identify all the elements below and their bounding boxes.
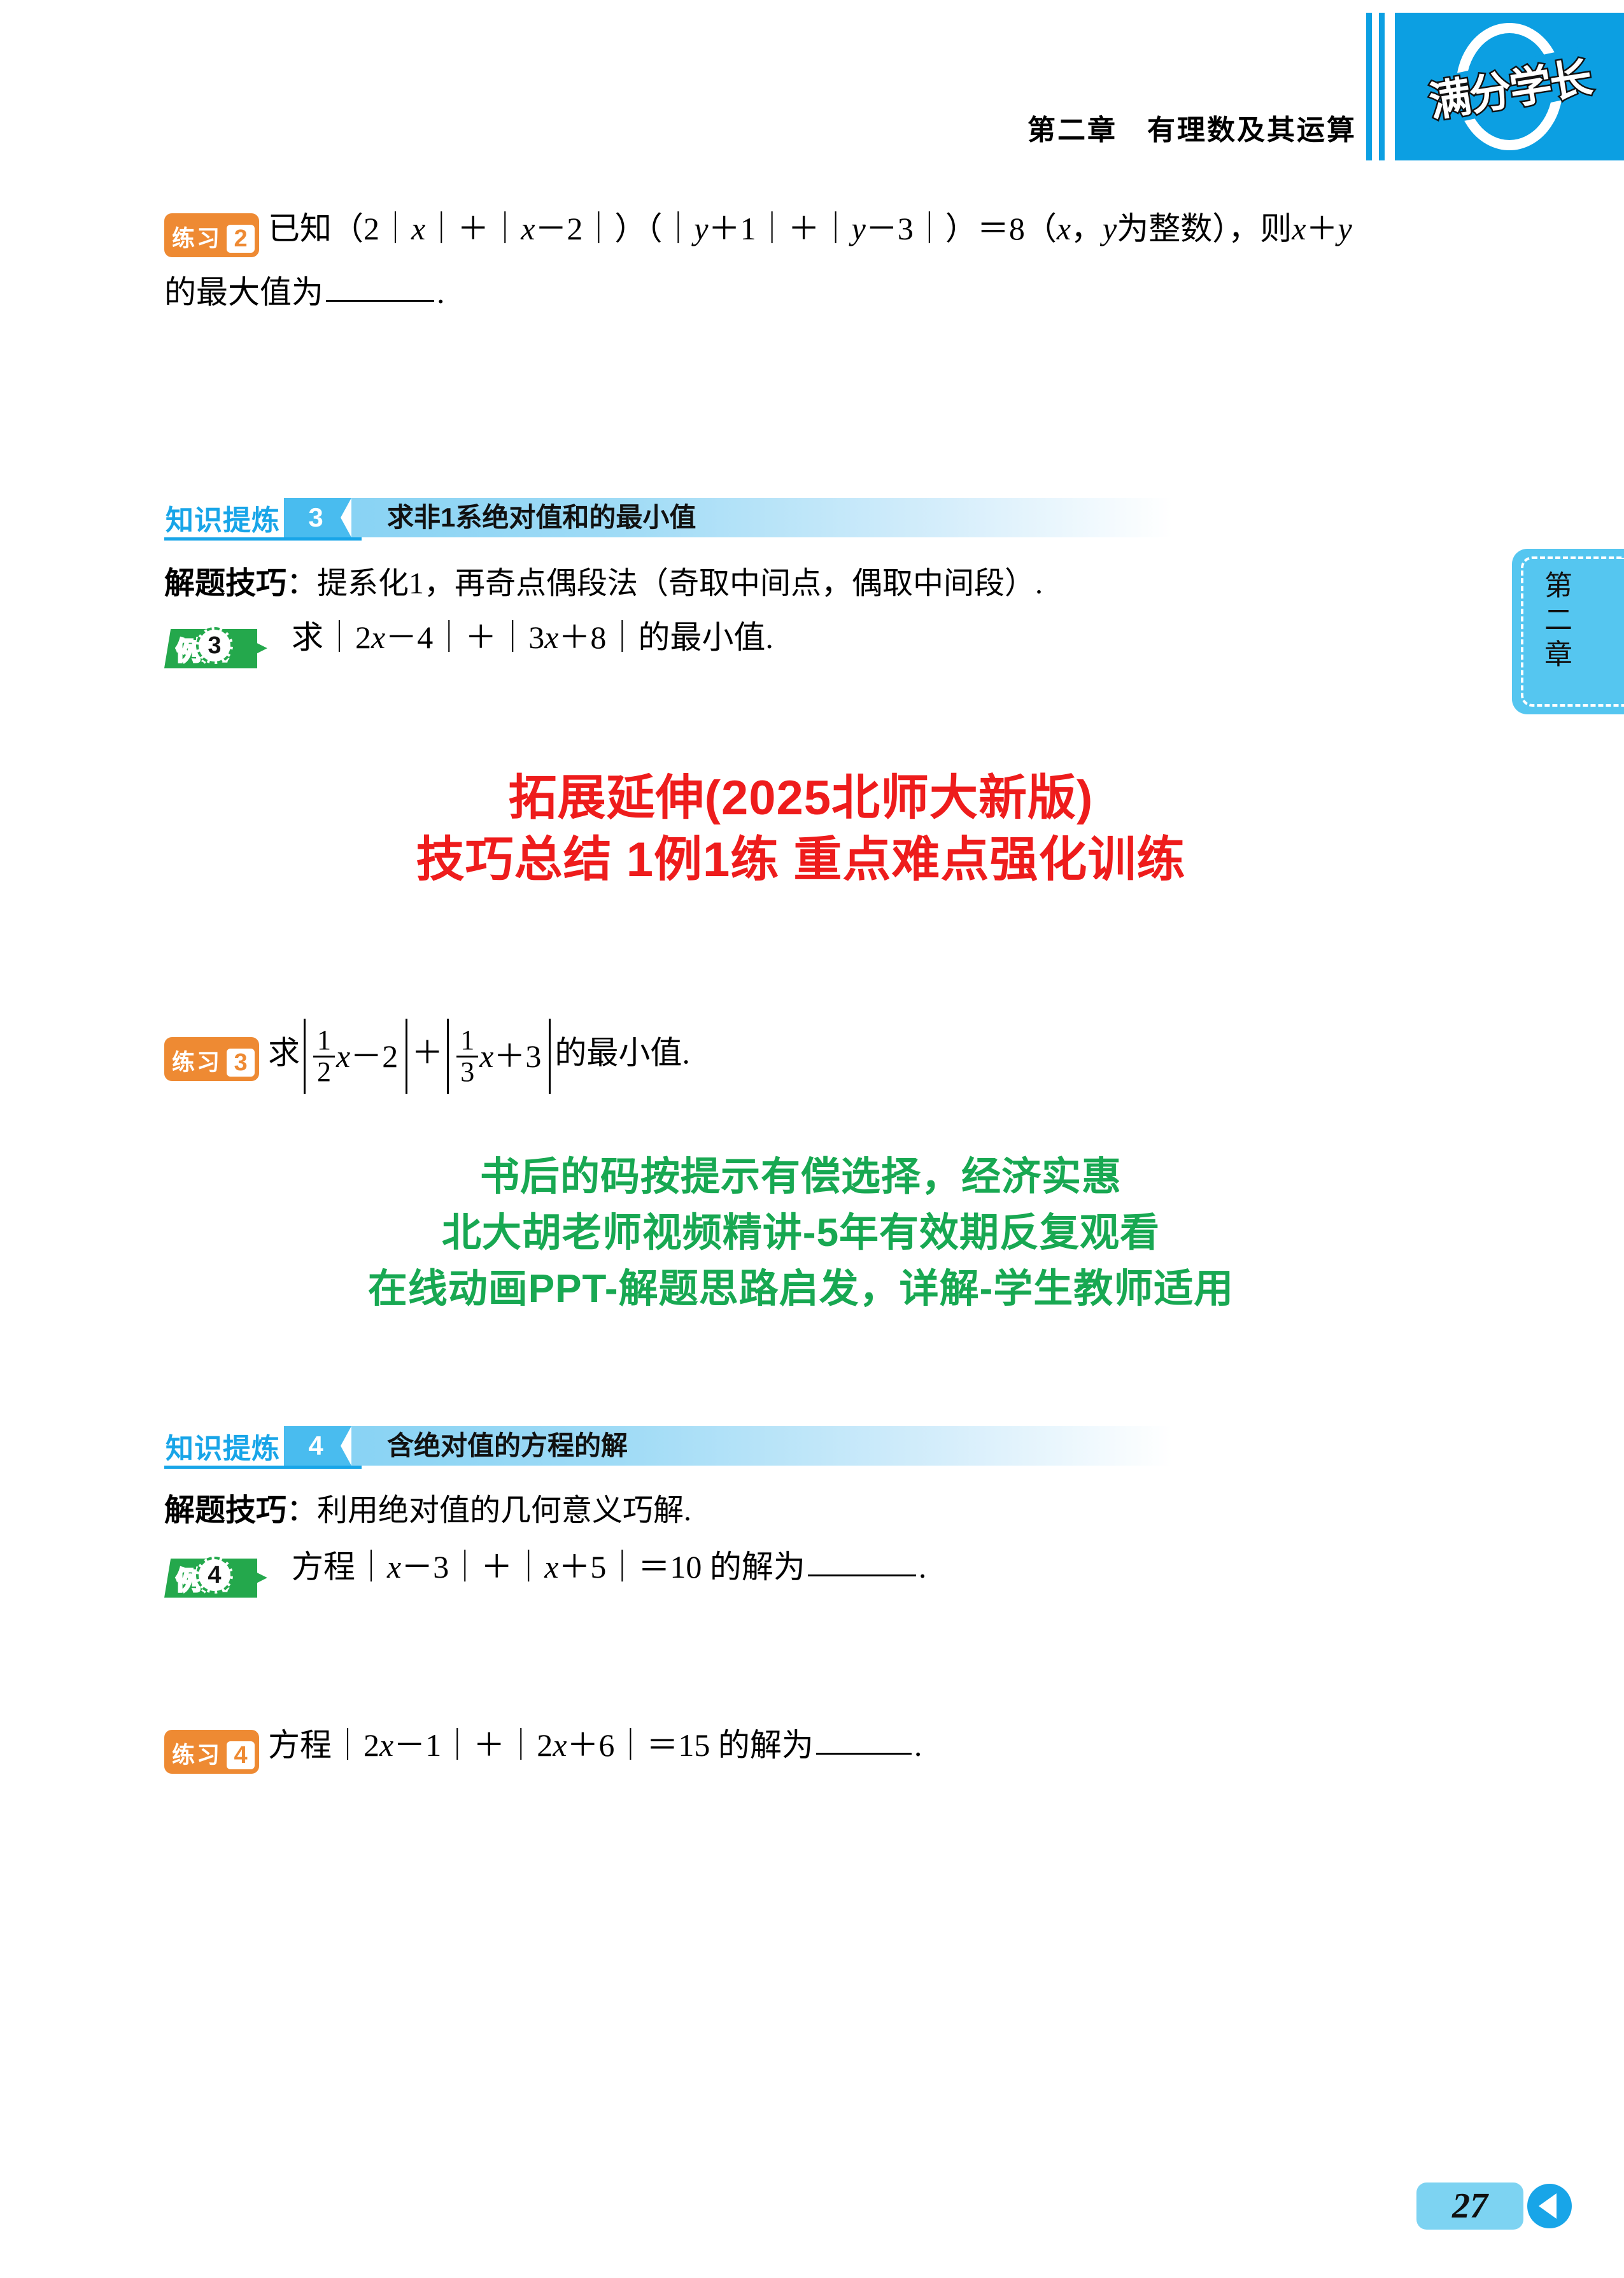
- abs-bar-right-1: [406, 1019, 407, 1094]
- exercise-3-fraction-1: 12: [313, 1026, 335, 1086]
- exercise-2-badge: 练习2: [164, 213, 259, 257]
- exercise-3-abs-inner-2: 13x＋3: [449, 1026, 549, 1086]
- example-4-arrow-icon: ▸▸: [250, 1566, 264, 1588]
- exercise-4-badge: 练习4: [164, 1730, 259, 1774]
- section-3-tip-text: ：提系化1，再奇点偶段法（奇取中间点，偶取中间段）.: [286, 567, 1043, 600]
- section-3-badge-underline: [164, 537, 362, 541]
- example-3-badge: 例题 3 ▸▸: [164, 626, 257, 666]
- exercise-2-var-x4: x: [1292, 211, 1306, 246]
- example-4-var-x1: x: [387, 1549, 401, 1585]
- exercise-4-answer-blank[interactable]: [816, 1753, 912, 1755]
- example-3-line: 例题 3 ▸▸ 求｜2x－4｜＋｜3x＋8｜的最小值.: [164, 619, 773, 666]
- example-4-text-b: －3｜＋｜: [401, 1549, 544, 1585]
- exercise-2-text-h: ＋: [1306, 211, 1338, 246]
- example-3-text-a: 求｜2: [292, 619, 371, 655]
- section-4-tip-text: ：利用绝对值的几何意义巧解.: [286, 1494, 691, 1527]
- example-4-badge-number: 4: [196, 1557, 233, 1594]
- exercise-3-var-x2: x: [479, 1038, 493, 1075]
- example-4-var-x2: x: [544, 1549, 558, 1585]
- exercise-2-var-y1: y: [694, 211, 708, 246]
- exercise-2-var-x1: x: [411, 211, 425, 246]
- prev-triangle-icon: [1539, 2193, 1557, 2219]
- fraction-2-denominator: 3: [456, 1056, 478, 1087]
- promo-green-text: 书后的码按提示有偿选择，经济实惠 北大胡老师视频精讲-5年有效期反复观看 在线动…: [164, 1149, 1437, 1317]
- exercise-2-badge-number: 2: [227, 225, 255, 253]
- exercise-3-abs-group-1: 12x－2: [304, 1019, 407, 1094]
- promo-green-line-3: 在线动画PPT-解题思路启发，详解-学生教师适用: [164, 1261, 1437, 1317]
- exercise-2-var-y3: y: [1103, 211, 1117, 246]
- section-4-badge-underline: [164, 1466, 362, 1469]
- page-footer: 27: [1416, 2182, 1572, 2230]
- exercise-2-line-1: 练习2 已知（2｜x｜＋｜x－2｜）（｜y＋1｜＋｜y－3｜）＝8（x，y为整数…: [164, 210, 1352, 257]
- section-3-tip-label: 解题技巧: [164, 567, 286, 600]
- section-4-header: 知识提炼 4 含绝对值的方程的解: [164, 1426, 1172, 1469]
- chapter-title: 第二章 有理数及其运算: [1027, 107, 1357, 148]
- example-3-badge-number: 3: [196, 627, 233, 664]
- exercise-4-badge-label: 练习: [172, 1741, 222, 1767]
- exercise-2-var-x2: x: [521, 211, 535, 246]
- section-3-header: 知识提炼 3 求非1系绝对值和的最小值: [164, 498, 1172, 541]
- prev-page-button[interactable]: [1527, 2184, 1572, 2228]
- header-accent-bar-1: [1366, 13, 1372, 160]
- exercise-4-period: .: [914, 1727, 922, 1763]
- section-4-tip-label: 解题技巧: [164, 1494, 286, 1527]
- exercise-3-line: 练习3 求12x－2＋13x＋3的最小值.: [164, 1019, 690, 1094]
- section-3-title: 求非1系绝对值和的最小值: [387, 498, 696, 537]
- exercise-3-text-a: 求: [268, 1035, 300, 1070]
- fraction-1-denominator: 2: [313, 1056, 335, 1087]
- exercise-2-text-e: －3｜）＝8（: [866, 211, 1057, 246]
- exercise-4-var-x1: x: [379, 1727, 393, 1763]
- promo-red-line-2: 技巧总结 1例1练 重点难点强化训练: [164, 829, 1437, 891]
- section-3-badge-chevron: 3: [284, 498, 351, 537]
- example-4-badge: 例题 4 ▸▸: [164, 1556, 257, 1595]
- exercise-4-badge-number: 4: [227, 1741, 255, 1769]
- section-4-badge-number: 4: [308, 1431, 323, 1461]
- section-3-tip: 解题技巧：提系化1，再奇点偶段法（奇取中间点，偶取中间段）.: [164, 558, 1043, 602]
- section-3-badge-number: 3: [308, 502, 323, 533]
- page-number: 27: [1416, 2182, 1523, 2230]
- exercise-2-text-f: ，: [1071, 211, 1103, 246]
- exercise-4-text-c: ＋6｜＝15 的解为: [567, 1727, 814, 1763]
- example-3-text-c: ＋8｜的最小值.: [558, 619, 773, 655]
- exercise-3-var-x1: x: [336, 1038, 350, 1075]
- section-4-badge: 知识提炼 4: [164, 1426, 351, 1466]
- exercise-2-text-d: ＋1｜＋｜: [709, 211, 852, 246]
- exercise-2-line-2: 的最大值为.: [164, 274, 445, 311]
- logo-label: 满分学长: [1424, 44, 1595, 130]
- fraction-2-numerator: 1: [456, 1026, 478, 1055]
- exercise-2-badge-label: 练习: [172, 225, 222, 251]
- section-4-badge-chevron: 4: [284, 1426, 351, 1466]
- chapter-tab-label: 第二章: [1535, 570, 1576, 674]
- promo-red-text: 拓展延伸(2025北师大新版) 技巧总结 1例1练 重点难点强化训练: [164, 767, 1437, 891]
- exercise-4-text-b: －1｜＋｜2: [393, 1727, 553, 1763]
- example-4-period: .: [919, 1549, 927, 1585]
- example-3-var-x1: x: [371, 619, 385, 655]
- exercise-3-abs-inner-1: 12x－2: [306, 1026, 406, 1086]
- exercise-2-text-a: 已知（2｜: [268, 211, 411, 246]
- exercise-2-answer-blank[interactable]: [326, 300, 434, 302]
- example-3-arrow-icon: ▸▸: [250, 637, 264, 658]
- exercise-3-badge-label: 练习: [172, 1049, 222, 1075]
- exercise-2-var-x3: x: [1057, 211, 1071, 246]
- section-4-badge-label: 知识提炼: [164, 1426, 284, 1466]
- example-4-answer-blank[interactable]: [808, 1574, 916, 1576]
- example-3-var-x2: x: [544, 619, 558, 655]
- page-header: 第二章 有理数及其运算 满分学长: [0, 0, 1624, 172]
- exercise-2-text-b: ｜＋｜: [425, 211, 521, 246]
- exercise-3-abs-group-2: 13x＋3: [447, 1019, 551, 1094]
- section-4-tip: 解题技巧：利用绝对值的几何意义巧解.: [164, 1485, 691, 1529]
- exercise-3-rest-1: －2: [350, 1038, 398, 1075]
- exercise-4-line: 练习4 方程｜2x－1｜＋｜2x＋6｜＝15 的解为.: [164, 1727, 922, 1774]
- exercise-2-text-g: 为整数），则: [1117, 211, 1292, 246]
- brand-logo: 满分学长: [1395, 13, 1624, 160]
- exercise-3-text-b: 的最小值.: [554, 1035, 690, 1070]
- exercise-2-var-y2: y: [852, 211, 866, 246]
- section-3-badge-label: 知识提炼: [164, 497, 284, 538]
- exercise-3-plus: ＋: [411, 1035, 443, 1070]
- exercise-2-line2-text: 的最大值为: [164, 274, 323, 310]
- exercise-3-badge: 练习3: [164, 1037, 259, 1081]
- exercise-2-var-y4: y: [1338, 211, 1352, 246]
- promo-red-line-1: 拓展延伸(2025北师大新版): [164, 767, 1437, 829]
- example-3-text-b: －4｜＋｜3: [385, 619, 544, 655]
- header-accent-bar-2: [1379, 13, 1385, 160]
- exercise-3-fraction-2: 13: [456, 1026, 478, 1086]
- exercise-4-text-a: 方程｜2: [268, 1727, 379, 1763]
- section-3-badge: 知识提炼 3: [164, 498, 351, 537]
- chapter-side-tab: 第二章: [1512, 549, 1624, 714]
- abs-bar-right-2: [549, 1019, 551, 1094]
- fraction-1-numerator: 1: [313, 1026, 335, 1055]
- exercise-2-text-c: －2｜）（｜: [535, 211, 694, 246]
- promo-green-line-1: 书后的码按提示有偿选择，经济实惠: [164, 1149, 1437, 1205]
- exercise-2-period: .: [437, 274, 445, 310]
- exercise-3-rest-2: ＋3: [493, 1038, 541, 1075]
- exercise-3-badge-number: 3: [227, 1049, 255, 1077]
- example-4-text-c: ＋5｜＝10 的解为: [558, 1549, 805, 1585]
- promo-green-line-2: 北大胡老师视频精讲-5年有效期反复观看: [164, 1205, 1437, 1261]
- example-4-line: 例题 4 ▸▸ 方程｜x－3｜＋｜x＋5｜＝10 的解为.: [164, 1548, 926, 1595]
- section-4-title: 含绝对值的方程的解: [387, 1426, 628, 1466]
- exercise-4-var-x2: x: [553, 1727, 567, 1763]
- example-4-text-a: 方程｜: [292, 1549, 387, 1585]
